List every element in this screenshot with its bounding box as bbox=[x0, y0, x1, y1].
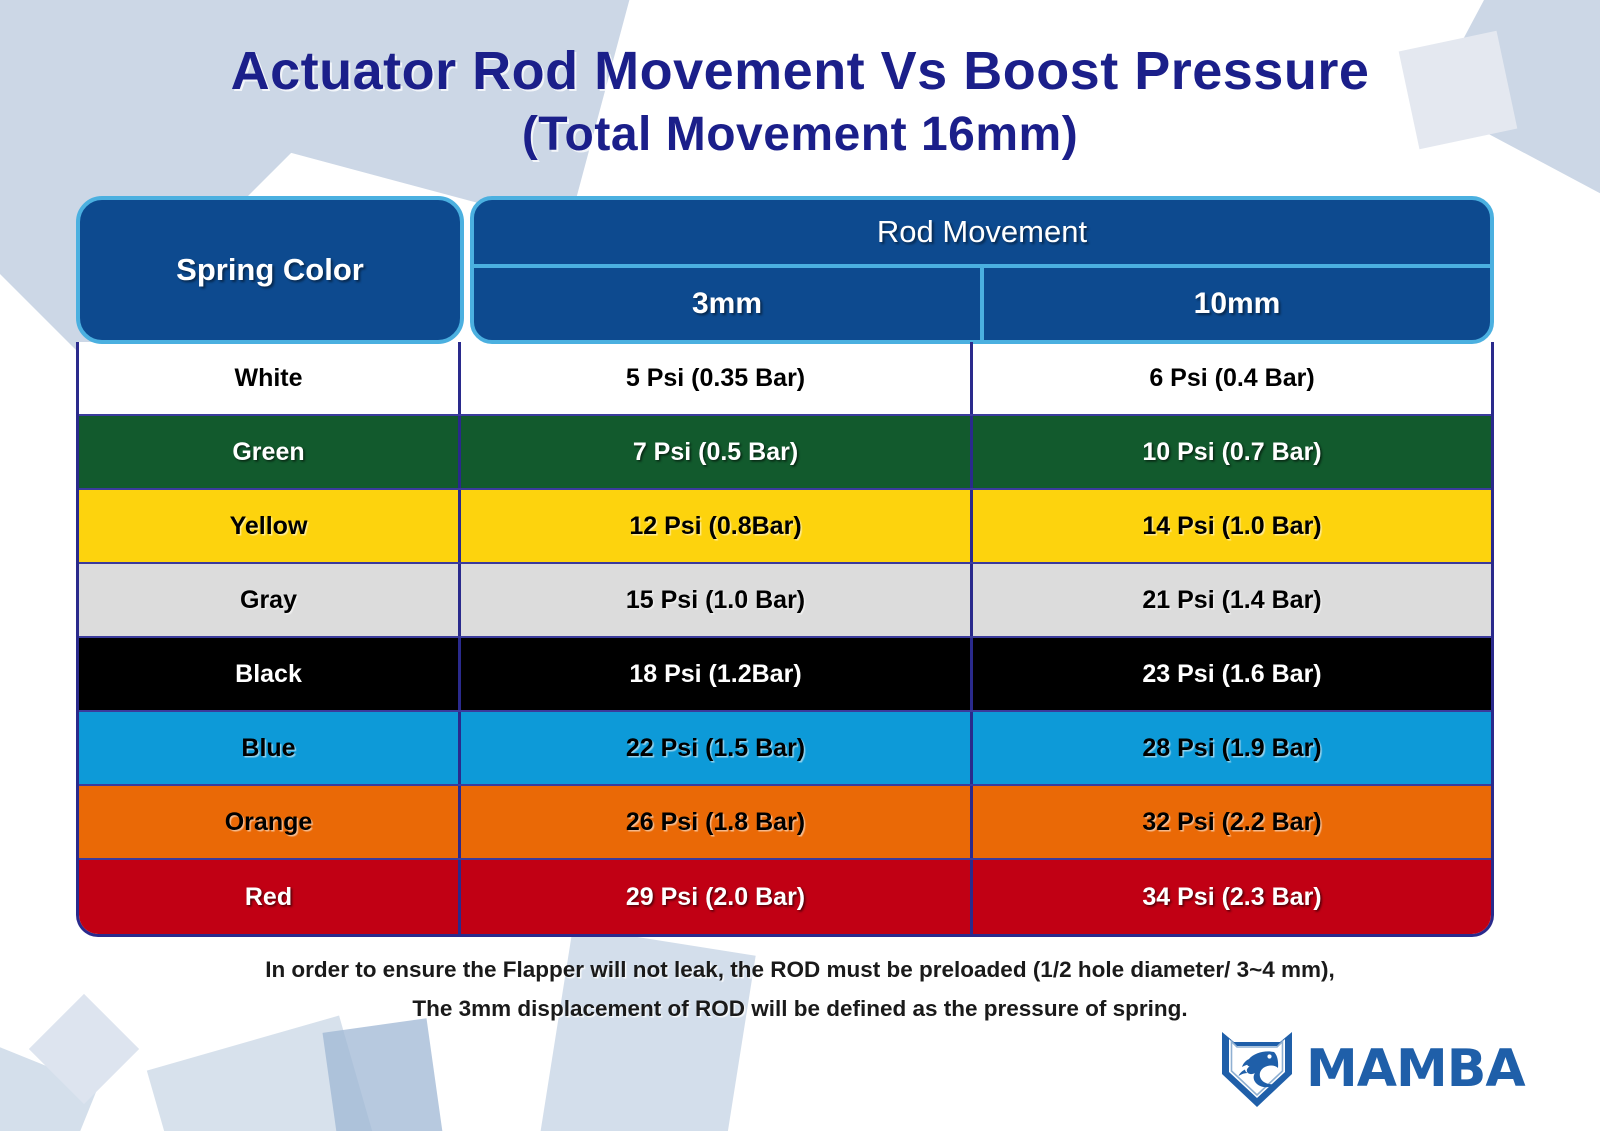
cell-10mm-pressure: 6 Psi (0.4 Bar) bbox=[973, 342, 1491, 414]
cell-spring-color: Green bbox=[79, 416, 461, 488]
pressure-table: Spring Color Rod Movement 3mm 10mm White… bbox=[76, 196, 1494, 937]
cell-10mm-pressure: 32 Psi (2.2 Bar) bbox=[973, 786, 1491, 858]
cell-10mm-pressure: 14 Psi (1.0 Bar) bbox=[973, 490, 1491, 562]
cell-spring-color: Blue bbox=[79, 712, 461, 784]
header-label-10mm: 10mm bbox=[1194, 287, 1281, 321]
decorative-square-bottom-left-3 bbox=[323, 1018, 443, 1131]
cell-spring-color: White bbox=[79, 342, 461, 414]
cell-3mm-pressure: 5 Psi (0.35 Bar) bbox=[461, 342, 973, 414]
decorative-square-bottom-left-0 bbox=[0, 1042, 98, 1131]
table-row: Red29 Psi (2.0 Bar)34 Psi (2.3 Bar) bbox=[79, 860, 1491, 934]
cell-spring-color: Red bbox=[79, 860, 461, 934]
cell-spring-color: Yellow bbox=[79, 490, 461, 562]
header-cell-rod-movement: Rod Movement 3mm 10mm bbox=[470, 196, 1494, 344]
header-cell-3mm: 3mm bbox=[474, 268, 984, 340]
header-cell-10mm: 10mm bbox=[984, 268, 1490, 340]
title-line-2: (Total Movement 16mm) bbox=[0, 106, 1600, 164]
header-cell-spring-color: Spring Color bbox=[76, 196, 464, 344]
header-subcolumns: 3mm 10mm bbox=[474, 268, 1490, 340]
table-row: Orange26 Psi (1.8 Bar)32 Psi (2.2 Bar) bbox=[79, 786, 1491, 860]
cell-3mm-pressure: 7 Psi (0.5 Bar) bbox=[461, 416, 973, 488]
header-label-3mm: 3mm bbox=[692, 287, 762, 321]
page-title: Actuator Rod Movement Vs Boost Pressure … bbox=[0, 40, 1600, 164]
decorative-square-bottom-left-2 bbox=[147, 1016, 383, 1131]
table-row: White5 Psi (0.35 Bar)6 Psi (0.4 Bar) bbox=[79, 342, 1491, 416]
cell-10mm-pressure: 21 Psi (1.4 Bar) bbox=[973, 564, 1491, 636]
cell-3mm-pressure: 15 Psi (1.0 Bar) bbox=[461, 564, 973, 636]
cell-10mm-pressure: 23 Psi (1.6 Bar) bbox=[973, 638, 1491, 710]
footer-line-2: The 3mm displacement of ROD will be defi… bbox=[0, 989, 1600, 1028]
table-row: Green7 Psi (0.5 Bar)10 Psi (0.7 Bar) bbox=[79, 416, 1491, 490]
cell-10mm-pressure: 28 Psi (1.9 Bar) bbox=[973, 712, 1491, 784]
header-label-rod-movement: Rod Movement bbox=[877, 214, 1087, 250]
cell-spring-color: Black bbox=[79, 638, 461, 710]
cell-10mm-pressure: 10 Psi (0.7 Bar) bbox=[973, 416, 1491, 488]
cell-3mm-pressure: 26 Psi (1.8 Bar) bbox=[461, 786, 973, 858]
footer-notes: In order to ensure the Flapper will not … bbox=[0, 950, 1600, 1029]
brand-logo-text: MAMBA bbox=[1306, 1039, 1525, 1099]
table-header: Spring Color Rod Movement 3mm 10mm bbox=[76, 196, 1494, 344]
table-row: Yellow12 Psi (0.8Bar)14 Psi (1.0 Bar) bbox=[79, 490, 1491, 564]
cell-10mm-pressure: 34 Psi (2.3 Bar) bbox=[973, 860, 1491, 934]
table-row: Blue22 Psi (1.5 Bar)28 Psi (1.9 Bar) bbox=[79, 712, 1491, 786]
footer-line-1: In order to ensure the Flapper will not … bbox=[0, 950, 1600, 989]
cell-spring-color: Orange bbox=[79, 786, 461, 858]
brand-logo: MAMBA bbox=[1218, 1028, 1525, 1110]
header-group-rod-movement: Rod Movement bbox=[474, 200, 1490, 268]
table-body: White5 Psi (0.35 Bar)6 Psi (0.4 Bar)Gree… bbox=[76, 342, 1494, 937]
cell-3mm-pressure: 29 Psi (2.0 Bar) bbox=[461, 860, 973, 934]
cell-3mm-pressure: 12 Psi (0.8Bar) bbox=[461, 490, 973, 562]
poster-canvas: Actuator Rod Movement Vs Boost Pressure … bbox=[0, 0, 1600, 1131]
table-row: Gray15 Psi (1.0 Bar)21 Psi (1.4 Bar) bbox=[79, 564, 1491, 638]
header-label-spring-color: Spring Color bbox=[176, 252, 364, 288]
table-row: Black18 Psi (1.2Bar)23 Psi (1.6 Bar) bbox=[79, 638, 1491, 712]
cell-spring-color: Gray bbox=[79, 564, 461, 636]
title-line-1: Actuator Rod Movement Vs Boost Pressure bbox=[0, 40, 1600, 102]
cell-3mm-pressure: 18 Psi (1.2Bar) bbox=[461, 638, 973, 710]
cell-3mm-pressure: 22 Psi (1.5 Bar) bbox=[461, 712, 973, 784]
snake-shield-icon bbox=[1218, 1028, 1296, 1110]
